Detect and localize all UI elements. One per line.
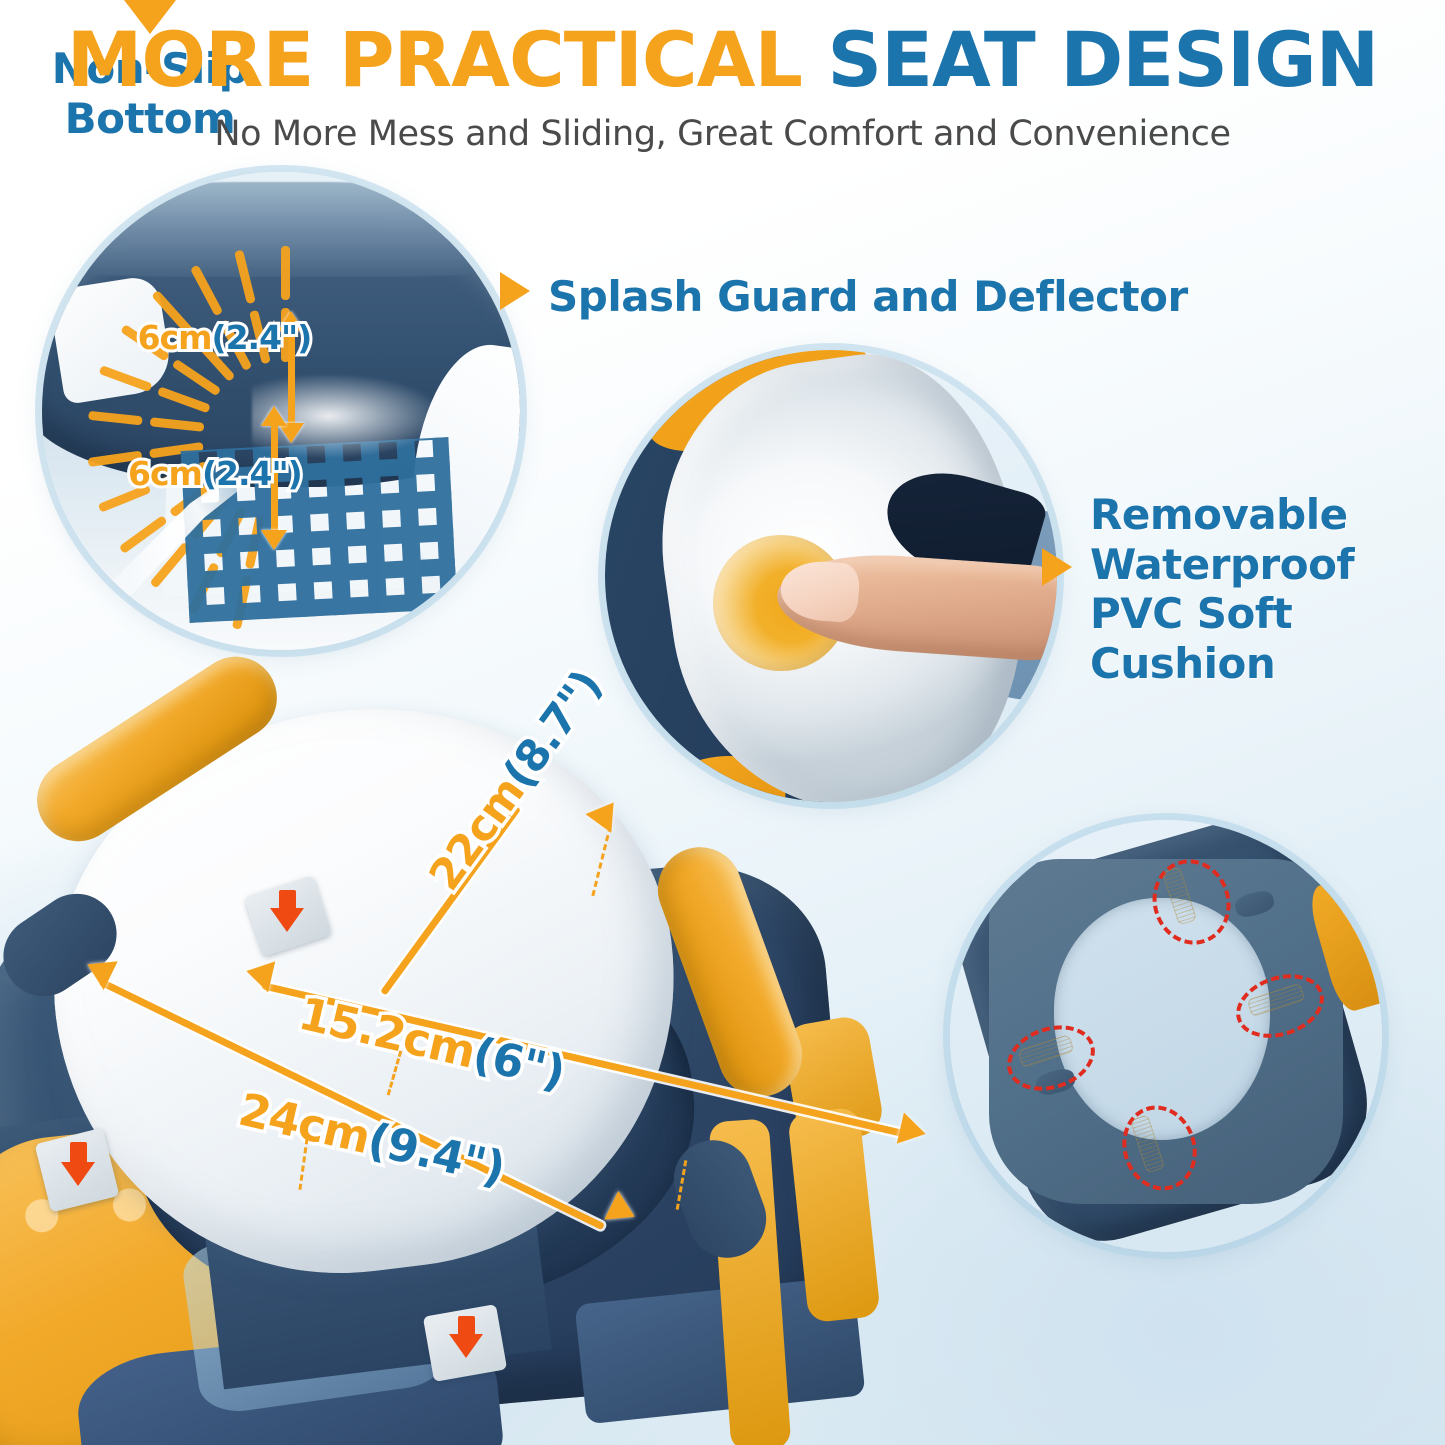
callout-cushion-line-3: PVC Soft (1090, 589, 1354, 639)
dimension-label-15cm: 15.2cm(6") (294, 987, 569, 1099)
dimension-guide (591, 826, 611, 897)
title-orange-part: MORE PRACTICAL (67, 15, 828, 104)
header: MORE PRACTICAL SEAT DESIGN No More Mess … (0, 0, 1445, 154)
callout-splash-guard-label: Splash Guard and Deflector (548, 272, 1188, 322)
dimension-guide (676, 1160, 688, 1210)
non-slip-bottom-photo (950, 820, 1382, 1252)
callout-cushion-line-1: Removable (1090, 490, 1354, 540)
deflection-ray (281, 246, 290, 300)
arrowhead-icon (585, 793, 626, 833)
page-title: MORE PRACTICAL SEAT DESIGN (0, 22, 1445, 98)
callout-cushion-line-4: Cushion (1090, 639, 1354, 689)
callout-cushion-label: Removable Waterproof PVC Soft Cushion (1090, 490, 1354, 688)
splash-guard-photo: 6cm(2.4") 6cm(2.4") (42, 172, 520, 650)
dimension-label-upper: 6cm(2.4") (138, 318, 312, 357)
infographic-canvas: MORE PRACTICAL SEAT DESIGN No More Mess … (0, 0, 1445, 1445)
title-blue-part: SEAT DESIGN (827, 15, 1378, 104)
splash-guard-scene: 6cm(2.4") 6cm(2.4") (42, 172, 520, 650)
triangle-right-icon (1042, 548, 1072, 586)
non-slip-scene (950, 820, 1382, 1252)
callout-cushion: Removable Waterproof PVC Soft Cushion (1042, 490, 1354, 688)
arrowhead-right-icon (604, 1191, 641, 1231)
dimension-label-24cm: 24cm(9.4") (234, 1083, 509, 1195)
dimension-label-22cm: 22cm(8.7") (420, 662, 612, 900)
dimension-overlay: 22cm(8.7") 15.2cm(6") 24cm(9.4") (0, 690, 1010, 1445)
callout-cushion-line-2: Waterproof (1090, 540, 1354, 590)
callout-splash-guard: Splash Guard and Deflector (500, 272, 1188, 322)
page-subtitle: No More Mess and Sliding, Great Comfort … (0, 114, 1445, 154)
arrowhead-down-icon (261, 530, 287, 550)
dimension-label-lower: 6cm(2.4") (128, 454, 302, 493)
arrowhead-right-icon (897, 1112, 930, 1149)
arrowhead-up-icon (261, 406, 287, 426)
triangle-right-icon (500, 272, 530, 310)
